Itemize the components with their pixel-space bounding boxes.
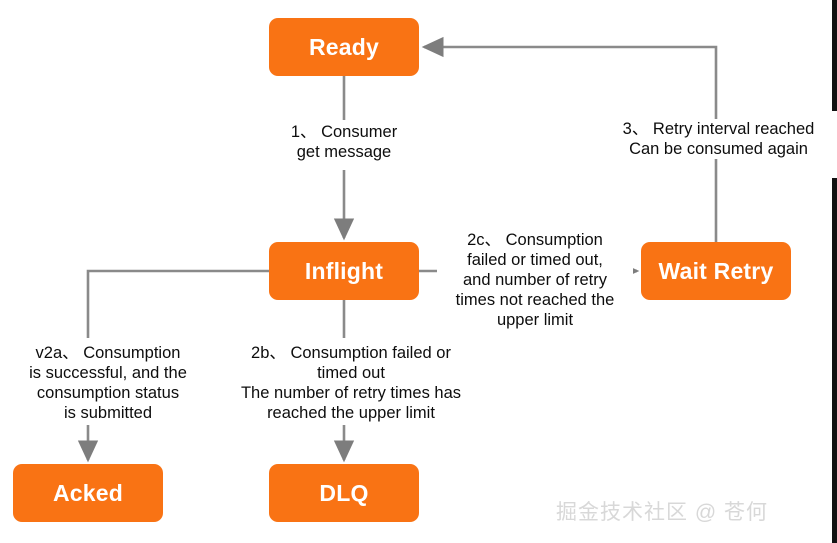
node-ready[interactable]: Ready	[269, 18, 419, 76]
diagram-canvas: Ready Inflight Wait Retry Acked DLQ 1、 C…	[0, 0, 837, 543]
edge-inflight-to-acked-upper	[88, 271, 269, 338]
edge-label-retry-interval-reached: 3、 Retry interval reached Can be consume…	[600, 119, 837, 159]
watermark: 掘金技术社区 @ 苍何	[556, 496, 768, 526]
right-edge-bar-bottom	[832, 178, 837, 543]
edge-label-retry-limit-reached: 2b、 Consumption failed or timed out The …	[222, 343, 480, 423]
node-wait-retry[interactable]: Wait Retry	[641, 242, 791, 300]
node-inflight[interactable]: Inflight	[269, 242, 419, 300]
node-acked[interactable]: Acked	[13, 464, 163, 522]
edge-label-consumer-get-message: 1、 Consumer get message	[256, 122, 432, 162]
node-dlq[interactable]: DLQ	[269, 464, 419, 522]
right-edge-bar-top	[832, 0, 837, 111]
edge-label-retry-limit-not-reached: 2c、 Consumption failed or timed out, and…	[437, 230, 633, 330]
edge-label-consumption-successful: v2a、 Consumption is successful, and the …	[2, 343, 214, 423]
